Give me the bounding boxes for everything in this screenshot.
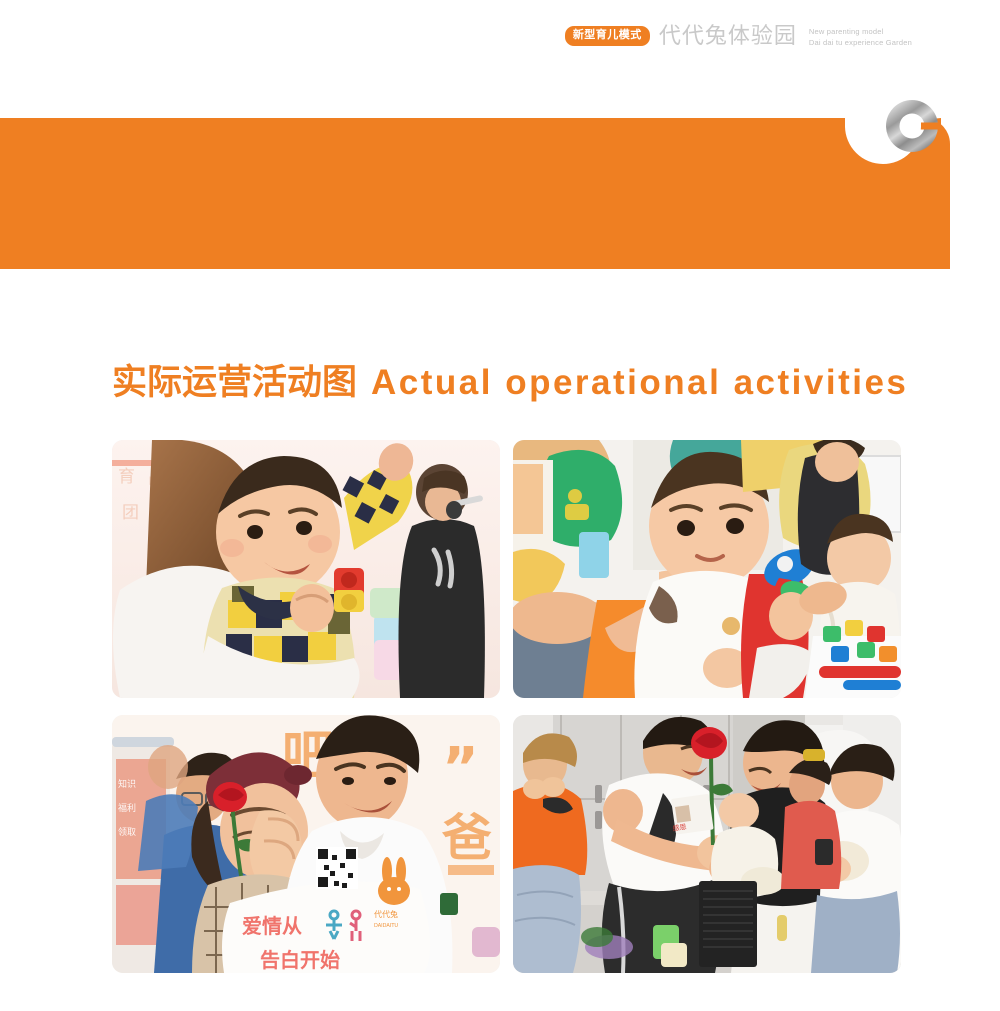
svg-text:代代兔: 代代兔: [374, 909, 398, 919]
orange-banner: [0, 118, 950, 269]
svg-text:领取: 领取: [118, 826, 136, 838]
brand-logo: 新型育儿模式 代代兔体验园 New parenting model Dai da…: [565, 25, 912, 48]
page-title-zh: 实际运营活动图: [112, 363, 357, 402]
brand-subtitle-line2: Dai dai tu experience Garden: [809, 38, 912, 47]
brand-subtitle-line1: New parenting model: [809, 27, 912, 36]
photo-couple-rose-sign: 吧! ” 爸 知识福利领取: [112, 715, 500, 973]
page-title: 实际运营活动图Actual operational activities: [112, 363, 908, 403]
svg-text:福利: 福利: [118, 802, 136, 814]
photo-grid: 育中团仁: [112, 440, 888, 973]
brand-wordmark: 代代兔体验园: [659, 25, 797, 47]
svg-text:告白开始: 告白开始: [260, 948, 340, 972]
photo-rose-presentation: 感恩: [513, 715, 901, 973]
page-title-en: Actual operational activities: [371, 363, 908, 402]
photo-toddler-clapping: 育中团仁: [112, 440, 500, 698]
svg-text:育: 育: [118, 467, 135, 487]
photo-toddler-cheek-touch: [513, 440, 901, 698]
brand-badge: 新型育儿模式: [565, 26, 650, 46]
svg-text:团: 团: [122, 503, 139, 523]
svg-text:知识: 知识: [118, 778, 136, 790]
brand-subtitle: New parenting model Dai dai tu experienc…: [809, 25, 912, 48]
svg-text:DAIDAITU: DAIDAITU: [374, 923, 398, 929]
svg-text:”: ”: [442, 736, 479, 801]
ring-mark-icon: [882, 96, 942, 156]
svg-text:爸: 爸: [441, 809, 492, 867]
svg-text:爱情从: 爱情从: [242, 914, 302, 938]
